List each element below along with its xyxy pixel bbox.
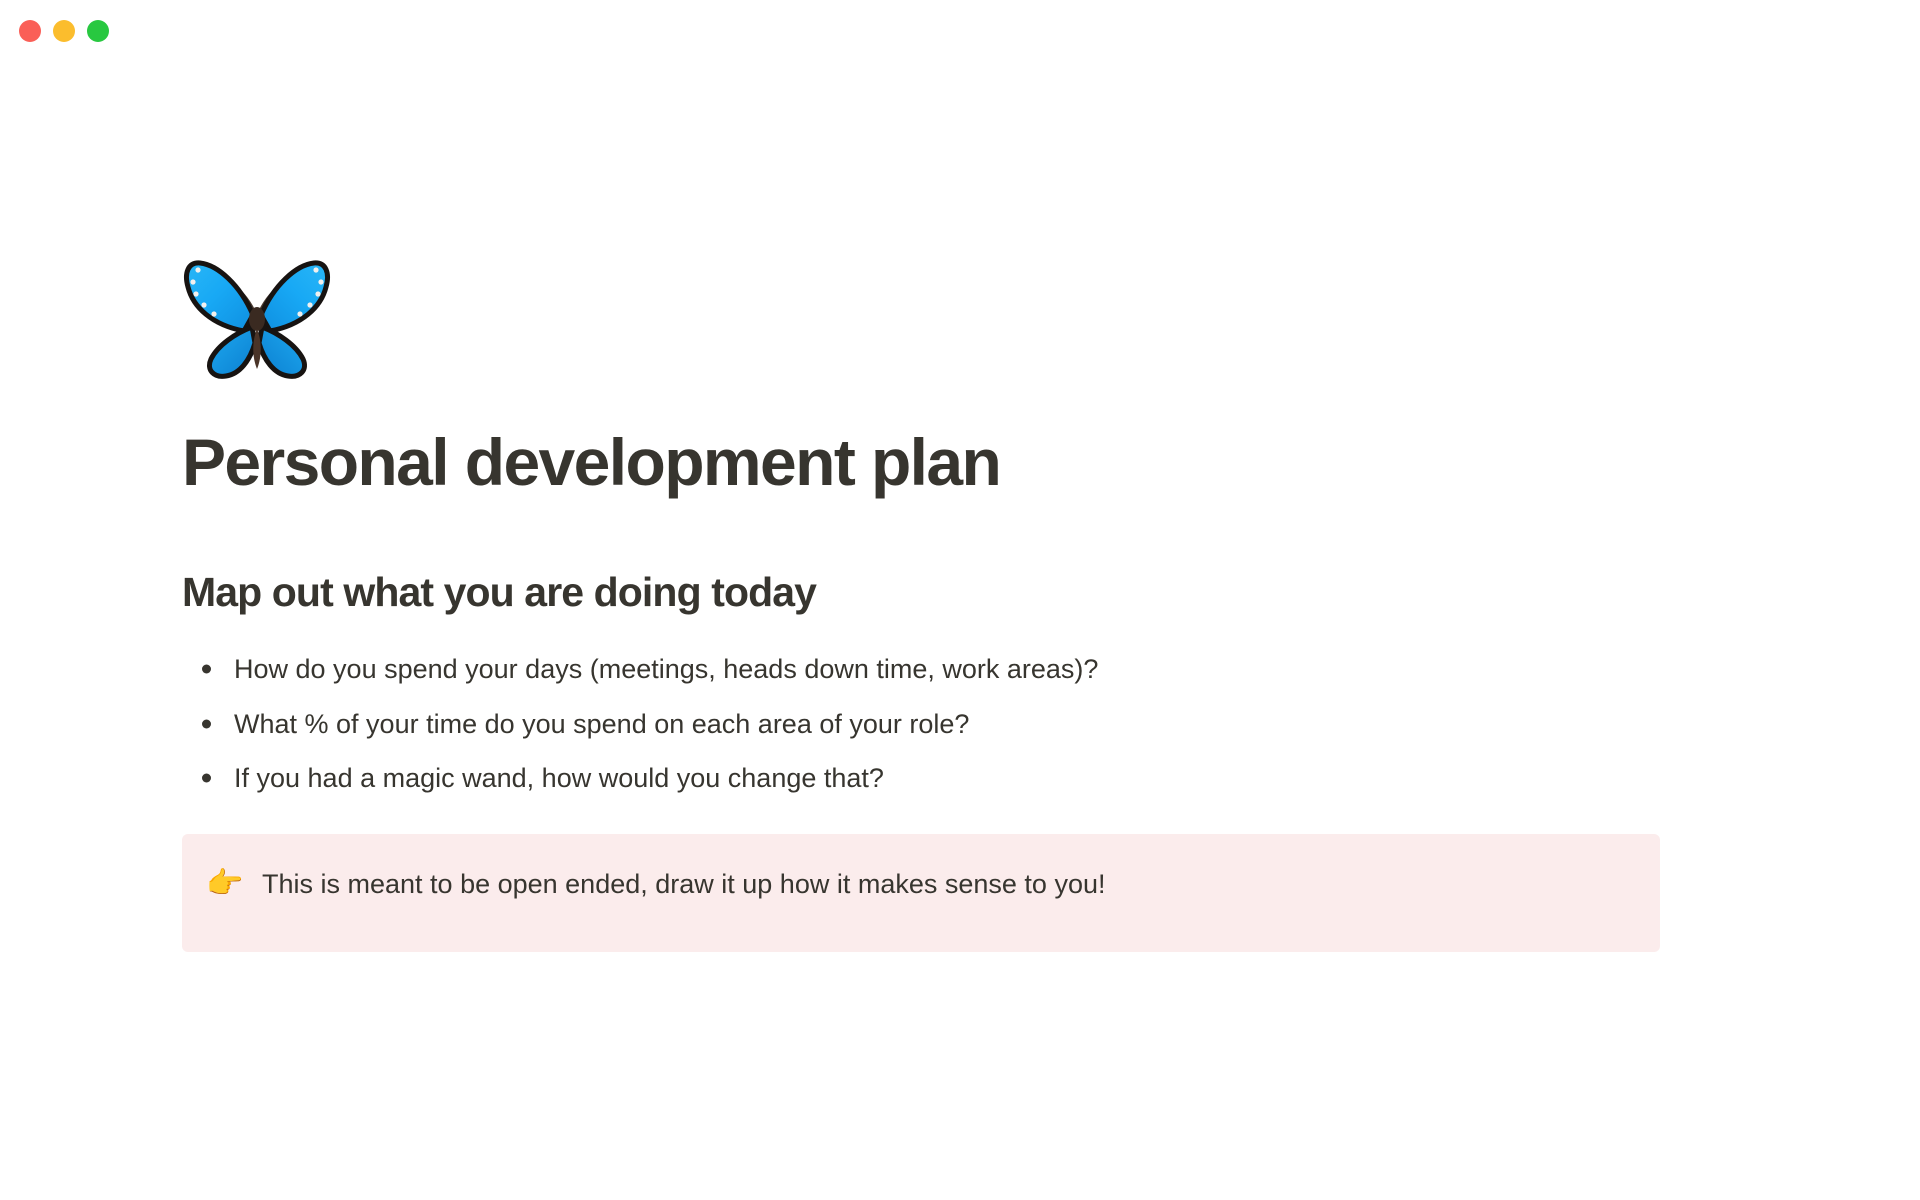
list-item-text: How do you spend your days (meetings, he… <box>234 654 1098 684</box>
traffic-light-controls <box>19 20 109 42</box>
callout-block[interactable]: 👉 This is meant to be open ended, draw i… <box>182 834 1660 952</box>
minimize-window-button[interactable] <box>53 20 75 42</box>
app-window: Personal development plan Map out what y… <box>0 0 1920 1200</box>
list-item[interactable]: If you had a magic wand, how would you c… <box>182 751 1742 806</box>
bullet-dot-icon <box>202 774 211 783</box>
list-item-text: What % of your time do you spend on each… <box>234 709 969 739</box>
bullet-dot-icon <box>202 665 211 674</box>
window-titlebar <box>0 0 1920 62</box>
bullet-list: How do you spend your days (meetings, he… <box>182 642 1742 806</box>
list-item-text: If you had a magic wand, how would you c… <box>234 763 884 793</box>
section-heading[interactable]: Map out what you are doing today <box>182 570 1742 616</box>
backhand-index-pointing-right-emoji-icon: 👉 <box>206 864 244 904</box>
butterfly-emoji-icon[interactable] <box>182 257 332 383</box>
callout-text: This is meant to be open ended, draw it … <box>262 864 1105 904</box>
maximize-window-button[interactable] <box>87 20 109 42</box>
bullet-dot-icon <box>202 719 211 728</box>
close-window-button[interactable] <box>19 20 41 42</box>
list-item[interactable]: How do you spend your days (meetings, he… <box>182 642 1742 697</box>
page-title[interactable]: Personal development plan <box>182 427 1742 498</box>
document-content: Personal development plan Map out what y… <box>182 62 1742 952</box>
list-item[interactable]: What % of your time do you spend on each… <box>182 697 1742 752</box>
document-page: Personal development plan Map out what y… <box>0 62 1920 1200</box>
